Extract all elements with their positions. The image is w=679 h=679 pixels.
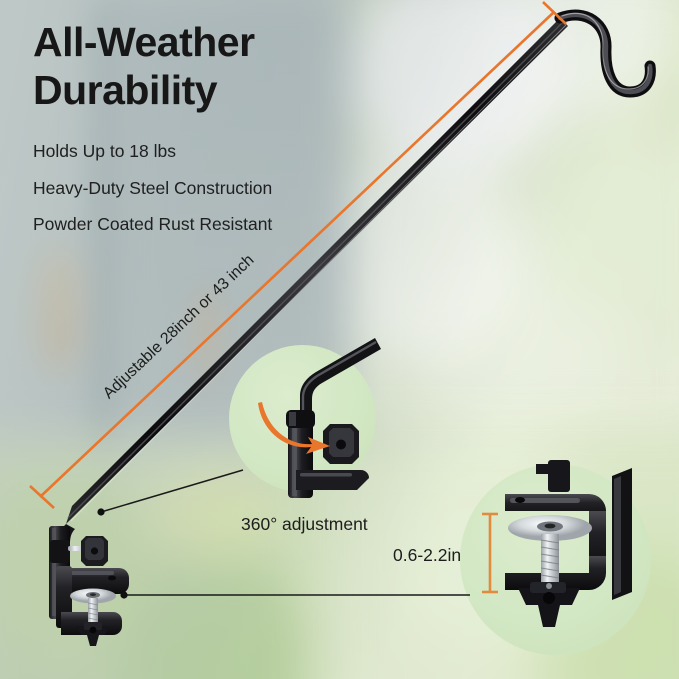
- rotation-annotation-label: 360° adjustment: [241, 514, 368, 535]
- c-clamp-icon: [49, 526, 129, 646]
- feature-list: Holds Up to 18 lbs Heavy-Duty Steel Cons…: [33, 143, 272, 253]
- feature-item: Heavy-Duty Steel Construction: [33, 180, 272, 198]
- feature-item: Powder Coated Rust Resistant: [33, 216, 272, 234]
- dimension-bar-icon: [482, 514, 498, 592]
- shepherd-hook-icon: [560, 13, 650, 92]
- clamp-detail-illustration: [482, 460, 632, 627]
- page-title: All-Weather Durability: [33, 18, 453, 115]
- product-feature-image: All-Weather Durability Holds Up to 18 lb…: [0, 0, 679, 679]
- headline-line-1: All-Weather: [33, 18, 453, 66]
- headline-line-2: Durability: [33, 66, 453, 114]
- feature-item: Holds Up to 18 lbs: [33, 143, 272, 161]
- clamp-annotation-label: 0.6-2.2in: [393, 545, 461, 566]
- rotation-detail-illustration: [258, 338, 381, 498]
